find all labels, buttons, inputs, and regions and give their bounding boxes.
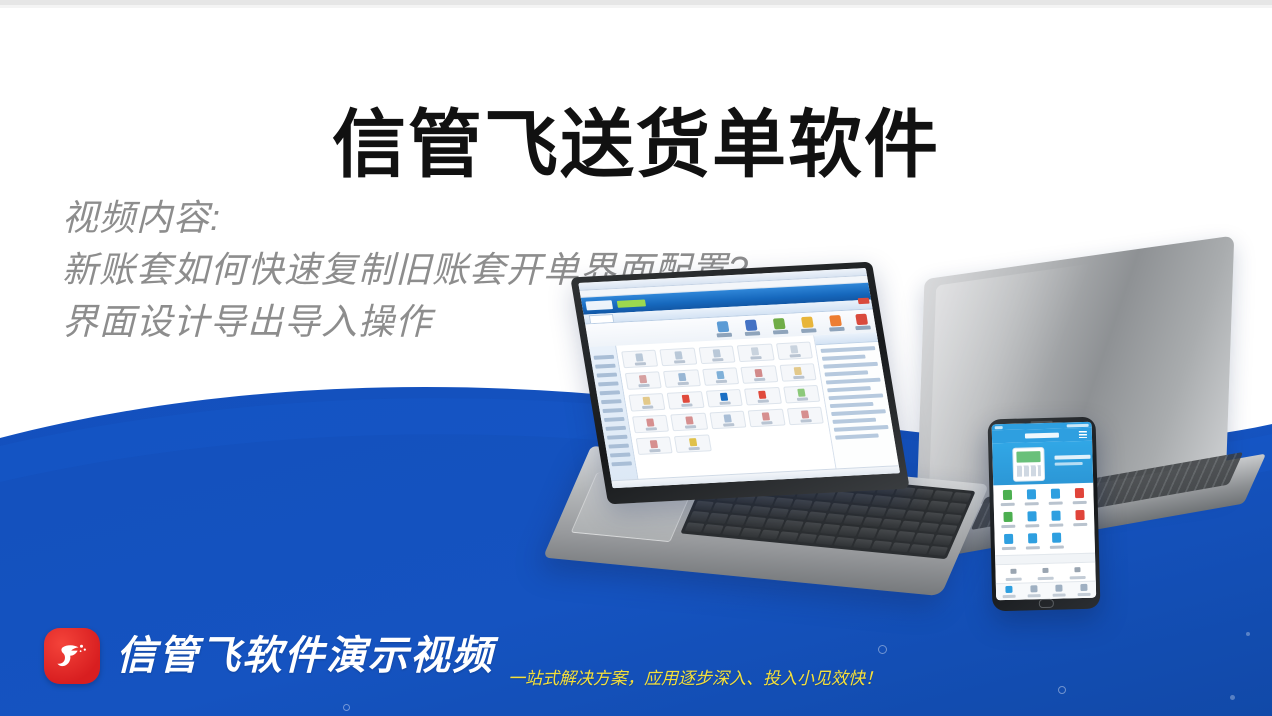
phone-module-icon[interactable] bbox=[1044, 488, 1066, 505]
phone-promo-banner bbox=[992, 441, 1093, 486]
phone-module-icon[interactable] bbox=[1020, 489, 1042, 506]
module-icon bbox=[698, 346, 735, 365]
banner-subtext bbox=[1055, 462, 1083, 466]
list-item bbox=[835, 433, 879, 439]
module-icon bbox=[786, 407, 823, 426]
module-icon bbox=[636, 436, 673, 455]
phone-module-icon[interactable] bbox=[997, 512, 1019, 529]
phone-app-title bbox=[1025, 433, 1059, 439]
footer-brand-bar: 信管飞软件演示视频 一站式解决方案，应用逐步深入、投入小见效快！ bbox=[44, 628, 882, 684]
module-icon bbox=[667, 391, 704, 410]
decor-dot bbox=[1246, 632, 1250, 636]
devices-illustration bbox=[560, 250, 1272, 650]
phone-module-icon[interactable] bbox=[998, 534, 1020, 551]
list-item bbox=[832, 418, 876, 424]
phone-tab-reports[interactable] bbox=[1046, 582, 1071, 599]
right-panel-tabs bbox=[814, 332, 878, 345]
toolbar-label-3 bbox=[773, 330, 789, 335]
phone-tabbar bbox=[996, 581, 1096, 601]
laptop-bezel bbox=[570, 262, 909, 505]
toolbar-label-5 bbox=[829, 327, 845, 332]
phone-stat-item bbox=[1030, 568, 1060, 581]
toolbar-label-1 bbox=[717, 333, 733, 338]
window-body bbox=[589, 332, 900, 488]
phone-stat-item bbox=[1062, 567, 1092, 580]
list-item bbox=[830, 402, 874, 408]
smartphone-device bbox=[988, 417, 1101, 612]
banner-headline bbox=[1054, 455, 1090, 460]
subtitle-line-1: 视频内容: bbox=[62, 192, 749, 244]
brand-tagline: 一站式解决方案，应用逐步深入、投入小见效快！ bbox=[508, 668, 882, 690]
laptop-screen-content bbox=[578, 268, 900, 488]
phone-module-icon[interactable] bbox=[1022, 533, 1044, 550]
toolbar-icon-4 bbox=[801, 317, 814, 328]
list-item bbox=[828, 393, 883, 400]
phone-stat-item bbox=[998, 568, 1028, 581]
module-icon bbox=[674, 434, 711, 453]
module-icon bbox=[671, 413, 708, 432]
module-icon bbox=[663, 369, 700, 388]
toolbar-label-2 bbox=[745, 331, 761, 336]
module-icon bbox=[628, 393, 665, 412]
app-green-badge bbox=[617, 299, 646, 307]
app-brand-logo-icon bbox=[585, 300, 613, 310]
phone-screen-content bbox=[992, 422, 1097, 601]
phone-tab-home[interactable] bbox=[996, 584, 1021, 601]
list-item bbox=[826, 378, 881, 385]
module-icon bbox=[632, 415, 669, 434]
toolbar-label-6 bbox=[855, 325, 871, 330]
phone-tab-me[interactable] bbox=[1071, 582, 1096, 599]
module-icon bbox=[660, 348, 697, 367]
window-close-button[interactable] bbox=[858, 298, 870, 304]
module-icon bbox=[741, 365, 778, 384]
toolbar-icon-2 bbox=[745, 319, 758, 330]
main-icon-workspace bbox=[616, 335, 837, 486]
decor-dot bbox=[343, 704, 350, 711]
active-tab bbox=[589, 314, 614, 323]
page-title: 信管飞送货单软件 bbox=[0, 102, 1272, 188]
module-icon bbox=[702, 367, 739, 386]
toolbar-label-4 bbox=[801, 328, 817, 333]
phone-module-grid bbox=[993, 483, 1095, 556]
module-icon bbox=[621, 350, 658, 369]
brand-name: 信管飞软件演示视频 bbox=[116, 634, 494, 678]
module-icon bbox=[748, 409, 785, 428]
toolbar-icon-3 bbox=[773, 318, 786, 329]
decor-dot bbox=[1058, 686, 1066, 694]
decor-dot bbox=[1230, 695, 1235, 700]
list-item bbox=[834, 425, 889, 432]
hamburger-menu-icon[interactable] bbox=[1079, 431, 1087, 438]
phone-module-icon[interactable] bbox=[1021, 511, 1043, 528]
module-icon bbox=[783, 385, 820, 404]
toolbar-icon-1 bbox=[717, 321, 730, 332]
phone-module-icon[interactable] bbox=[1045, 532, 1067, 549]
list-item bbox=[822, 355, 866, 361]
list-item bbox=[824, 370, 868, 376]
front-laptop-screen bbox=[570, 262, 909, 505]
phone-module-icon[interactable] bbox=[1068, 488, 1090, 505]
xinguanfei-bird-logo-icon bbox=[44, 628, 100, 684]
module-icon bbox=[744, 387, 781, 406]
list-item bbox=[820, 346, 875, 353]
module-icon bbox=[737, 344, 774, 363]
banner-device-image bbox=[1012, 447, 1045, 482]
module-icon bbox=[709, 411, 746, 430]
phone-tab-docs[interactable] bbox=[1021, 583, 1046, 600]
list-item bbox=[823, 362, 878, 369]
list-item bbox=[827, 386, 871, 392]
slide-canvas: 信管飞送货单软件 视频内容: 新账套如何快速复制旧账套开单界面配置? 界面设计导… bbox=[0, 0, 1272, 716]
phone-home-button[interactable] bbox=[1039, 599, 1054, 608]
phone-module-icon[interactable] bbox=[1045, 510, 1067, 527]
module-icon bbox=[625, 371, 662, 390]
toolbar-icon-5 bbox=[829, 315, 842, 326]
module-icon bbox=[706, 389, 743, 408]
phone-module-icon[interactable] bbox=[996, 490, 1018, 507]
module-icon-grid bbox=[621, 342, 827, 455]
list-item bbox=[831, 409, 886, 416]
module-icon bbox=[776, 342, 813, 361]
phone-module-icon[interactable] bbox=[1069, 510, 1091, 527]
toolbar-icon-6 bbox=[855, 314, 868, 325]
module-icon bbox=[779, 363, 816, 382]
